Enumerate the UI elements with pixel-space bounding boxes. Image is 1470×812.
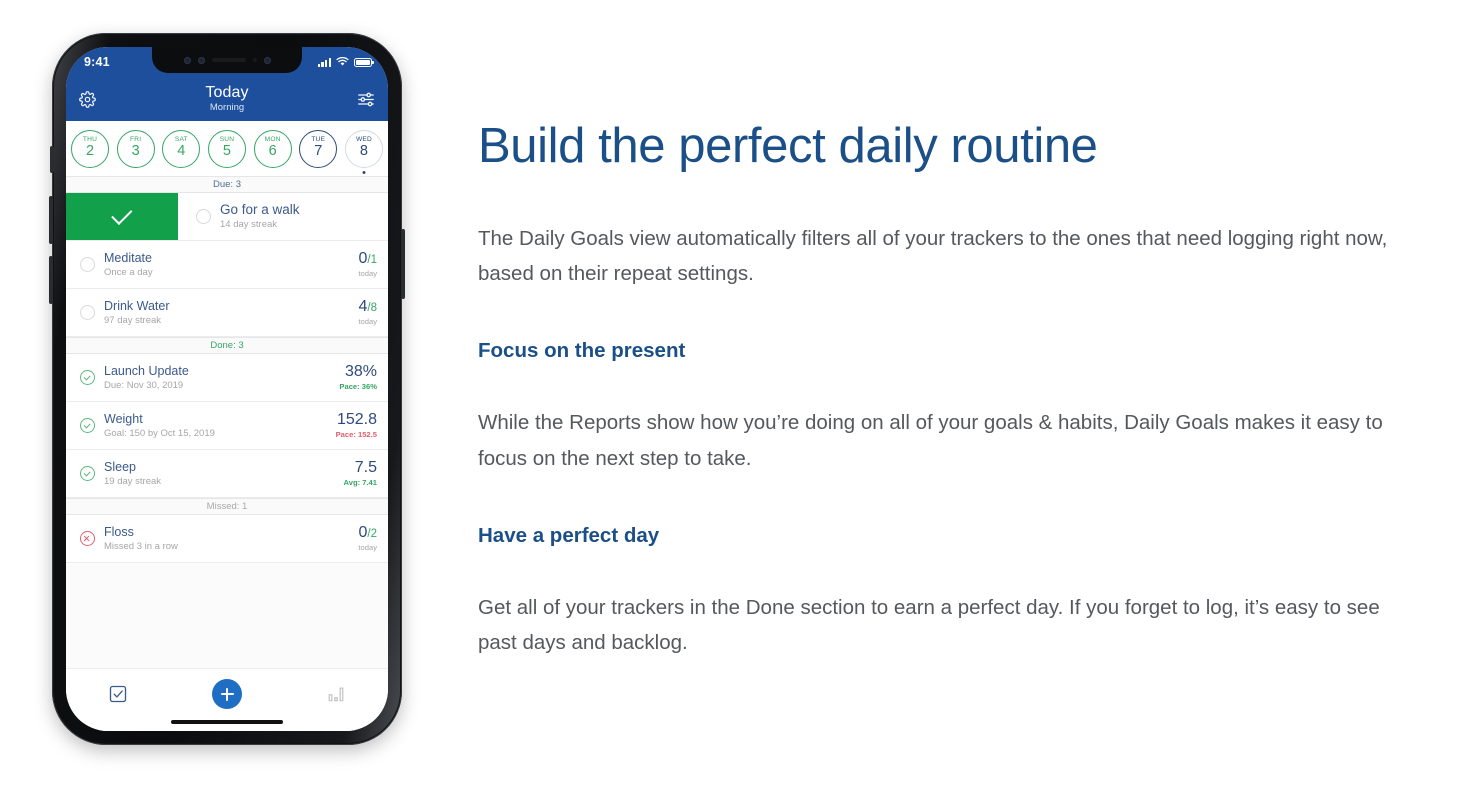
tracker-toggle[interactable] — [70, 305, 104, 320]
day-chip-wed-selected[interactable]: WED 8 — [345, 130, 383, 168]
tracker-row-floss[interactable]: Floss Missed 3 in a row 0/2 today — [66, 515, 388, 563]
day-chip-sat[interactable]: SAT 4 — [162, 130, 200, 168]
empty-circle-icon — [80, 305, 95, 320]
tracker-value-main: 7.5 — [344, 460, 377, 477]
tracker-row-go-for-a-walk[interactable]: Go for a walk 14 day streak — [66, 193, 388, 241]
face-id-sensor-icon — [198, 57, 205, 64]
section-header-done: Done: 3 — [66, 337, 388, 354]
tracker-toggle[interactable] — [70, 370, 104, 385]
empty-circle-icon — [196, 209, 211, 224]
add-tracker-button[interactable] — [212, 679, 242, 709]
tracker-title: Weight — [104, 412, 330, 427]
feature-paragraph-1: The Daily Goals view automatically filte… — [478, 221, 1408, 292]
feature-subheading-2: Have a perfect day — [478, 524, 1438, 548]
day-chip-number: 3 — [132, 144, 140, 159]
day-selector-strip[interactable]: THU 2 FRI 3 SAT 4 SUN 5 MON 6 — [66, 121, 388, 176]
tracker-row-launch-update[interactable]: Launch Update Due: Nov 30, 2019 38% Pace… — [66, 354, 388, 402]
marketing-feature-page: 9:41 — [0, 0, 1470, 812]
day-chip-number: 5 — [223, 144, 231, 159]
check-circle-icon — [80, 370, 95, 385]
wifi-icon — [336, 57, 349, 67]
tracker-text: Weight Goal: 150 by Oct 15, 2019 — [104, 412, 336, 439]
feature-heading: Build the perfect daily routine — [478, 120, 1438, 173]
day-chip-number: 6 — [269, 144, 277, 159]
tracker-subtitle: 97 day streak — [104, 315, 352, 326]
tracker-title: Launch Update — [104, 364, 333, 379]
tracker-subtitle: Goal: 150 by Oct 15, 2019 — [104, 428, 330, 439]
front-camera-icon — [184, 57, 191, 64]
list-empty-space — [66, 563, 388, 669]
tracker-text: Floss Missed 3 in a row — [104, 525, 358, 552]
status-bar-indicators — [318, 57, 372, 67]
tracker-value-sub: today — [358, 543, 377, 552]
tracker-value-main: 0/2 — [358, 525, 377, 542]
tracker-title: Drink Water — [104, 299, 352, 314]
tracker-value-main: 152.8 — [336, 412, 377, 429]
tracker-pace-label: Pace: 152.5 — [336, 430, 377, 439]
tracker-toggle[interactable] — [70, 466, 104, 481]
home-indicator — [171, 720, 283, 724]
tracker-subtitle: 19 day streak — [104, 476, 338, 487]
tracker-toggle[interactable] — [70, 418, 104, 433]
swipe-complete-action[interactable] — [66, 193, 178, 240]
tracker-title: Sleep — [104, 460, 338, 475]
phone-power-button — [401, 229, 405, 299]
tracker-pace-label: Pace: 36% — [339, 382, 377, 391]
phone-volume-up-button — [49, 196, 53, 244]
day-chip-number: 2 — [86, 144, 94, 159]
tracker-value-sub: today — [358, 317, 377, 326]
cellular-signal-icon — [318, 58, 331, 67]
phone-screen: 9:41 — [66, 47, 388, 731]
tracker-value: 152.8 Pace: 152.5 — [336, 412, 388, 439]
day-chip-thu[interactable]: THU 2 — [71, 130, 109, 168]
app-nav-bar: Today Morning — [66, 77, 388, 121]
day-chip-mon[interactable]: MON 6 — [254, 130, 292, 168]
tracker-value-target: /8 — [367, 302, 377, 314]
dot-projector-icon — [264, 57, 271, 64]
tracker-row-sleep[interactable]: Sleep 19 day streak 7.5 Avg: 7.41 — [66, 450, 388, 498]
sliders-filter-icon[interactable] — [357, 92, 375, 107]
tracker-subtitle: Missed 3 in a row — [104, 541, 352, 552]
tracker-text: Go for a walk 14 day streak — [220, 202, 388, 230]
gear-icon[interactable] — [79, 91, 96, 108]
check-circle-icon — [80, 418, 95, 433]
tracker-text: Sleep 19 day streak — [104, 460, 344, 487]
phone-notch — [152, 47, 302, 73]
feature-paragraph-2: While the Reports show how you’re doing … — [478, 405, 1408, 476]
page-title: Today — [66, 85, 388, 102]
x-circle-icon — [80, 531, 95, 546]
tracker-text: Meditate Once a day — [104, 251, 358, 278]
tracker-avg-label: Avg: 7.41 — [344, 478, 377, 487]
check-circle-icon — [80, 466, 95, 481]
day-chip-tue[interactable]: TUE 7 — [299, 130, 337, 168]
empty-circle-icon — [80, 257, 95, 272]
tracker-value-target: /1 — [367, 254, 377, 266]
tracker-row-weight[interactable]: Weight Goal: 150 by Oct 15, 2019 152.8 P… — [66, 402, 388, 450]
tracker-title: Floss — [104, 525, 352, 540]
tracker-toggle[interactable] — [70, 531, 104, 546]
bottom-tab-bar[interactable] — [66, 669, 388, 731]
tracker-toggle[interactable] — [70, 257, 104, 272]
battery-full-icon — [354, 58, 372, 67]
status-bar-time: 9:41 — [84, 55, 110, 69]
section-header-due: Due: 3 — [66, 176, 388, 193]
checklist-checkbox-icon[interactable] — [108, 684, 128, 704]
iphone-mockup: 9:41 — [52, 33, 402, 745]
tracker-subtitle: 14 day streak — [220, 219, 382, 230]
page-subtitle: Morning — [66, 102, 388, 113]
phone-mute-switch — [50, 146, 54, 173]
tracker-value-main: 4/8 — [358, 299, 377, 316]
tracker-title: Meditate — [104, 251, 352, 266]
tracker-value: 38% Pace: 36% — [339, 364, 388, 391]
tracker-value: 0/2 today — [358, 525, 388, 552]
tracker-title: Go for a walk — [220, 202, 382, 218]
tracker-subtitle: Due: Nov 30, 2019 — [104, 380, 333, 391]
tracker-list: Due: 3 Go for a walk 14 day streak Medit… — [66, 176, 388, 669]
nav-title-block: Today Morning — [66, 85, 388, 114]
day-chip-number: 4 — [177, 144, 185, 159]
tracker-value: 4/8 today — [358, 299, 388, 326]
feature-copy-block: Build the perfect daily routine The Dail… — [478, 120, 1438, 660]
ambient-sensor-icon — [253, 58, 257, 62]
tracker-value-target: /2 — [367, 528, 377, 540]
checkmark-icon — [111, 204, 132, 225]
earpiece-speaker — [212, 58, 246, 62]
day-chip-fri[interactable]: FRI 3 — [117, 130, 155, 168]
phone-volume-down-button — [49, 256, 53, 304]
day-chip-sun[interactable]: SUN 5 — [208, 130, 246, 168]
feature-paragraph-3: Get all of your trackers in the Done sec… — [478, 590, 1408, 661]
selected-day-dot-icon — [362, 171, 365, 174]
tracker-toggle[interactable] — [186, 209, 220, 224]
section-header-missed: Missed: 1 — [66, 498, 388, 515]
tracker-subtitle: Once a day — [104, 267, 352, 278]
tracker-value: 0/1 today — [358, 251, 388, 278]
tracker-value-sub: today — [358, 269, 377, 278]
tracker-text: Drink Water 97 day streak — [104, 299, 358, 326]
feature-subheading-1: Focus on the present — [478, 339, 1438, 363]
tracker-text: Launch Update Due: Nov 30, 2019 — [104, 364, 339, 391]
bar-chart-icon[interactable] — [326, 684, 346, 704]
tracker-value: 7.5 Avg: 7.41 — [344, 460, 388, 487]
day-chip-number: 8 — [360, 144, 368, 159]
tracker-value-main: 0/1 — [358, 251, 377, 268]
tracker-row-drink-water[interactable]: Drink Water 97 day streak 4/8 today — [66, 289, 388, 337]
day-chip-number: 7 — [314, 144, 322, 159]
tracker-row-meditate[interactable]: Meditate Once a day 0/1 today — [66, 241, 388, 289]
tracker-value-main: 38% — [339, 364, 377, 381]
